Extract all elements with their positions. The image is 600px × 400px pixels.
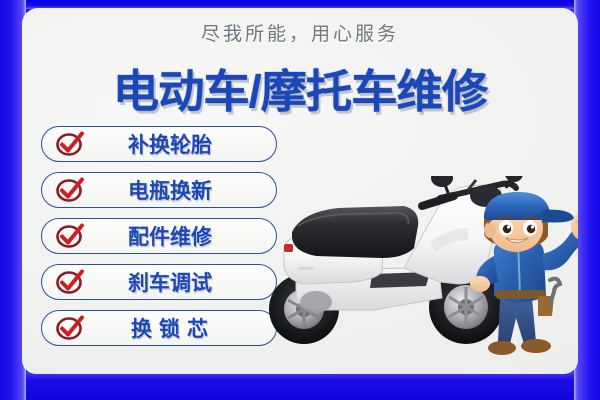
check-circle-icon: [55, 224, 85, 249]
mechanic-head: [484, 192, 574, 252]
check-circle-icon: [55, 316, 85, 341]
tail-light: [284, 244, 293, 252]
check-circle-icon: [55, 270, 85, 295]
poster-subtitle: 尽我所能，用心服务: [22, 19, 578, 46]
check-circle-icon: [55, 132, 85, 157]
service-list: 补换轮胎电瓶换新配件维修刹车调试换锁芯: [41, 126, 277, 356]
poster-title: 电动车/摩托车维修: [22, 55, 578, 120]
content-card: 尽我所能，用心服务 电动车/摩托车维修 补换轮胎电瓶换新配件维修刹车调试换锁芯: [22, 8, 578, 374]
service-pill[interactable]: 电瓶换新: [41, 172, 277, 208]
poster-root: 尽我所能，用心服务 电动车/摩托车维修 补换轮胎电瓶换新配件维修刹车调试换锁芯: [0, 0, 600, 400]
mechanic-hand-left: [470, 276, 490, 292]
mechanic-illustration: [454, 192, 578, 372]
mechanic-shoe-right: [521, 339, 551, 353]
mechanic-shoe-left: [488, 341, 516, 355]
svg-text:electric: electric: [298, 266, 314, 272]
scooter-motor: [300, 291, 332, 313]
mechanic-cap: [484, 192, 550, 220]
service-pill[interactable]: 换锁芯: [41, 310, 277, 346]
service-pill[interactable]: 补换轮胎: [41, 126, 277, 162]
mechanic-legs: [498, 298, 536, 344]
check-circle-icon: [55, 178, 85, 203]
service-pill[interactable]: 刹车调试: [41, 264, 277, 300]
frame-border-bottom: [0, 372, 600, 400]
service-pill[interactable]: 配件维修: [41, 218, 277, 254]
mechanic-cap-brim: [542, 210, 574, 223]
